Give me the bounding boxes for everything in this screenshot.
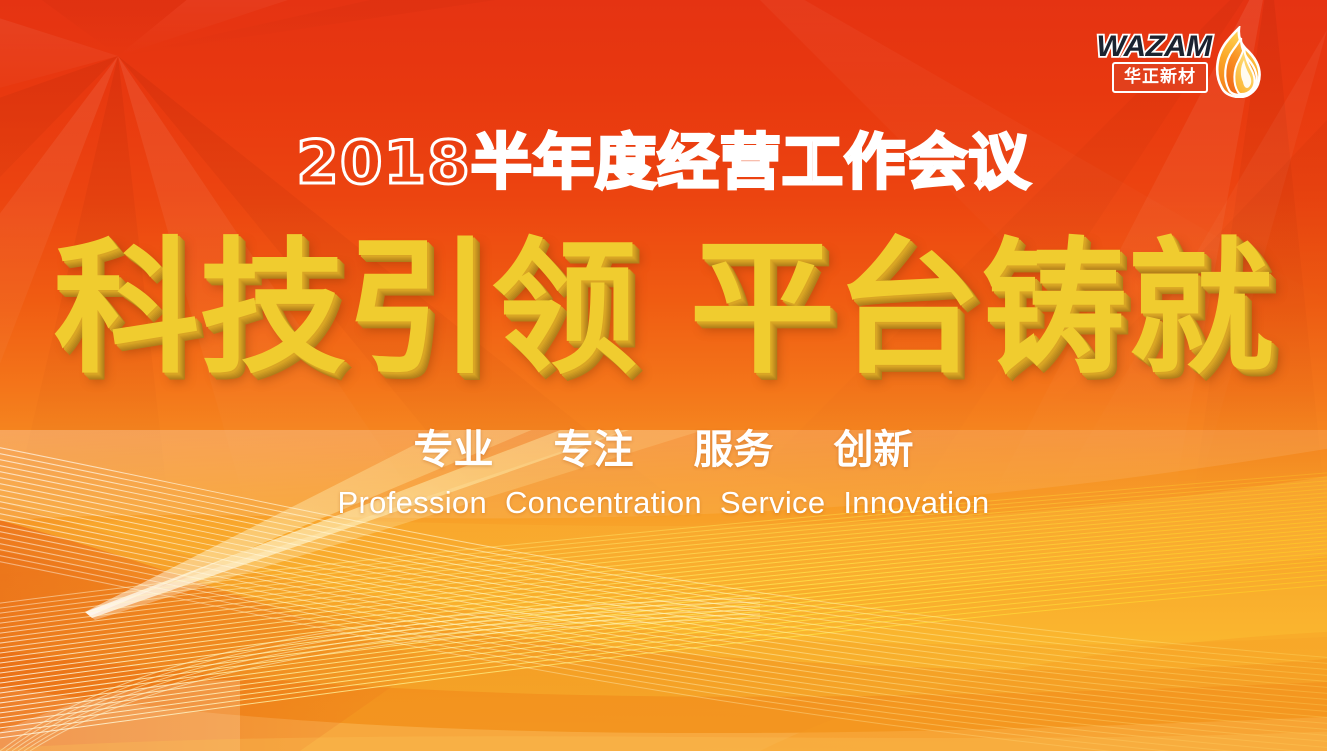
slogan-cn-item: 创新 [804, 430, 944, 470]
slogan-cn-item: 专业 [384, 430, 524, 470]
slogan-cn-item: 专注 [524, 430, 664, 470]
page-title-eyebrow: 2018半年度经营工作会议 [0, 133, 1327, 193]
headline-right: 平台铸就 [690, 224, 1274, 394]
conference-banner: WAZAM 华正新材 [0, 0, 1327, 751]
logo-wordmark: WAZAM [1087, 32, 1220, 62]
slogan-en-item: Profession [329, 487, 496, 518]
page-title-headline: 科技引领平台铸就 [0, 228, 1327, 392]
headline-left: 科技引领 [54, 224, 638, 394]
slogan-chinese: 专业专注服务创新 [0, 430, 1327, 470]
company-logo[interactable]: WAZAM 华正新材 [1090, 26, 1265, 102]
slogan-english: ProfessionConcentrationServiceInnovation [0, 487, 1327, 518]
slogan-en-item: Service [711, 487, 834, 518]
slogan-en-item: Innovation [834, 487, 998, 518]
slogan-en-item: Concentration [496, 487, 711, 518]
wave-lines-decoration [0, 430, 1327, 751]
slogan-cn-item: 服务 [664, 430, 804, 470]
logo-chinese-badge: 华正新材 [1112, 62, 1208, 93]
logo-lockup: WAZAM 华正新材 [1090, 26, 1218, 98]
logo-chinese-name: 华正新材 [1124, 69, 1196, 86]
flame-icon [1214, 26, 1266, 98]
